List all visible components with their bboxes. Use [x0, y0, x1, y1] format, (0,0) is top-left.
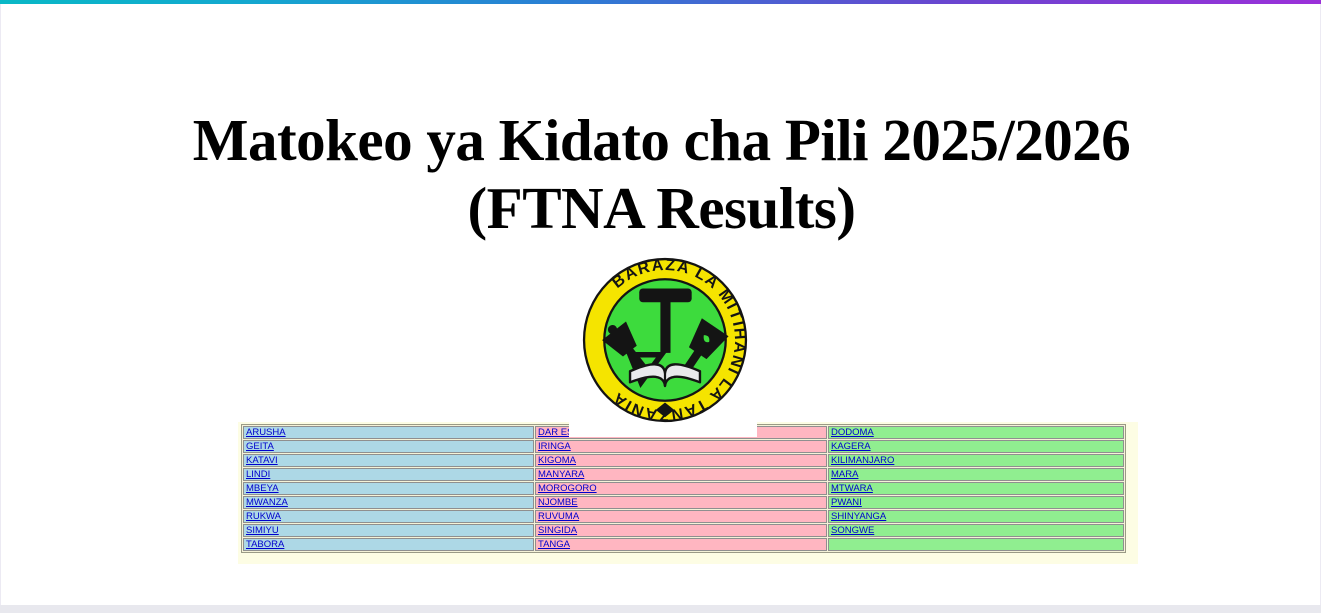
region-cell: SONGWE: [828, 524, 1124, 537]
region-link-tanga[interactable]: TANGA: [538, 539, 570, 550]
region-link-iringa[interactable]: IRINGA: [538, 441, 571, 452]
region-cell: MARA: [828, 468, 1124, 481]
region-link-njombe[interactable]: NJOMBE: [538, 497, 578, 508]
region-cell: ARUSHA: [243, 426, 534, 439]
table-row: TABORATANGA: [243, 538, 1124, 551]
region-link-manyara[interactable]: MANYARA: [538, 469, 584, 480]
region-cell: KILIMANJARO: [828, 454, 1124, 467]
region-cell: LINDI: [243, 468, 534, 481]
region-link-kilimanjaro[interactable]: KILIMANJARO: [831, 455, 894, 466]
table-row: KATAVIKIGOMAKILIMANJARO: [243, 454, 1124, 467]
table-row: MWANZANJOMBEPWANI: [243, 496, 1124, 509]
page-title-line-1: Matokeo ya Kidato cha Pili 2025/2026: [1, 106, 1321, 174]
table-row: GEITAIRINGAKAGERA: [243, 440, 1124, 453]
region-link-kigoma[interactable]: KIGOMA: [538, 455, 576, 466]
region-link-tabora[interactable]: TABORA: [246, 539, 284, 550]
region-cell: IRINGA: [535, 440, 827, 453]
region-cell: MBEYA: [243, 482, 534, 495]
region-link-mwanza[interactable]: MWANZA: [246, 497, 288, 508]
region-cell: RUVUMA: [535, 510, 827, 523]
results-panel: ARUSHADAR ES SALAAMDODOMAGEITAIRINGAKAGE…: [238, 422, 1138, 564]
region-link-geita[interactable]: GEITA: [246, 441, 274, 452]
regions-table: ARUSHADAR ES SALAAMDODOMAGEITAIRINGAKAGE…: [241, 424, 1126, 553]
region-cell: PWANI: [828, 496, 1124, 509]
region-cell: [828, 538, 1124, 551]
region-link-lindi[interactable]: LINDI: [246, 469, 270, 480]
region-cell: KAGERA: [828, 440, 1124, 453]
table-row: SIMIYUSINGIDASONGWE: [243, 524, 1124, 537]
region-link-ruvuma[interactable]: RUVUMA: [538, 511, 579, 522]
table-row: LINDIMANYARAMARA: [243, 468, 1124, 481]
table-row: RUKWARUVUMASHINYANGA: [243, 510, 1124, 523]
page-title: Matokeo ya Kidato cha Pili 2025/2026 (FT…: [1, 106, 1321, 242]
page-frame: Matokeo ya Kidato cha Pili 2025/2026 (FT…: [0, 4, 1321, 605]
region-cell: NJOMBE: [535, 496, 827, 509]
region-link-mbeya[interactable]: MBEYA: [246, 483, 279, 494]
region-link-mara[interactable]: MARA: [831, 469, 858, 480]
region-link-morogoro[interactable]: MOROGORO: [538, 483, 597, 494]
region-link-arusha[interactable]: ARUSHA: [246, 427, 286, 438]
region-cell: KIGOMA: [535, 454, 827, 467]
regions-table-body: ARUSHADAR ES SALAAMDODOMAGEITAIRINGAKAGE…: [243, 426, 1124, 551]
region-link-shinyanga[interactable]: SHINYANGA: [831, 511, 886, 522]
region-link-kagera[interactable]: KAGERA: [831, 441, 871, 452]
region-cell: MANYARA: [535, 468, 827, 481]
table-row: MBEYAMOROGOROMTWARA: [243, 482, 1124, 495]
region-cell: RUKWA: [243, 510, 534, 523]
region-cell: SHINYANGA: [828, 510, 1124, 523]
region-cell: GEITA: [243, 440, 534, 453]
region-cell: KATAVI: [243, 454, 534, 467]
region-cell: DODOMA: [828, 426, 1124, 439]
region-cell: SINGIDA: [535, 524, 827, 537]
region-link-katavi[interactable]: KATAVI: [246, 455, 278, 466]
region-cell: TABORA: [243, 538, 534, 551]
region-cell: MTWARA: [828, 482, 1124, 495]
page-bottom-strip: [0, 605, 1321, 613]
region-cell: SIMIYU: [243, 524, 534, 537]
region-link-songwe[interactable]: SONGWE: [831, 525, 874, 536]
region-link-singida[interactable]: SINGIDA: [538, 525, 577, 536]
region-cell: MOROGORO: [535, 482, 827, 495]
region-link-simiyu[interactable]: SIMIYU: [246, 525, 279, 536]
region-link-dodoma[interactable]: DODOMA: [831, 427, 874, 438]
region-link-rukwa[interactable]: RUKWA: [246, 511, 281, 522]
page-title-line-2: (FTNA Results): [1, 174, 1321, 242]
region-link-mtwara[interactable]: MTWARA: [831, 483, 873, 494]
region-cell: TANGA: [535, 538, 827, 551]
necta-logo: BARAZA LA MITIHANI LA TANZANIA: [573, 246, 757, 434]
region-link-pwani[interactable]: PWANI: [831, 497, 862, 508]
region-cell: MWANZA: [243, 496, 534, 509]
